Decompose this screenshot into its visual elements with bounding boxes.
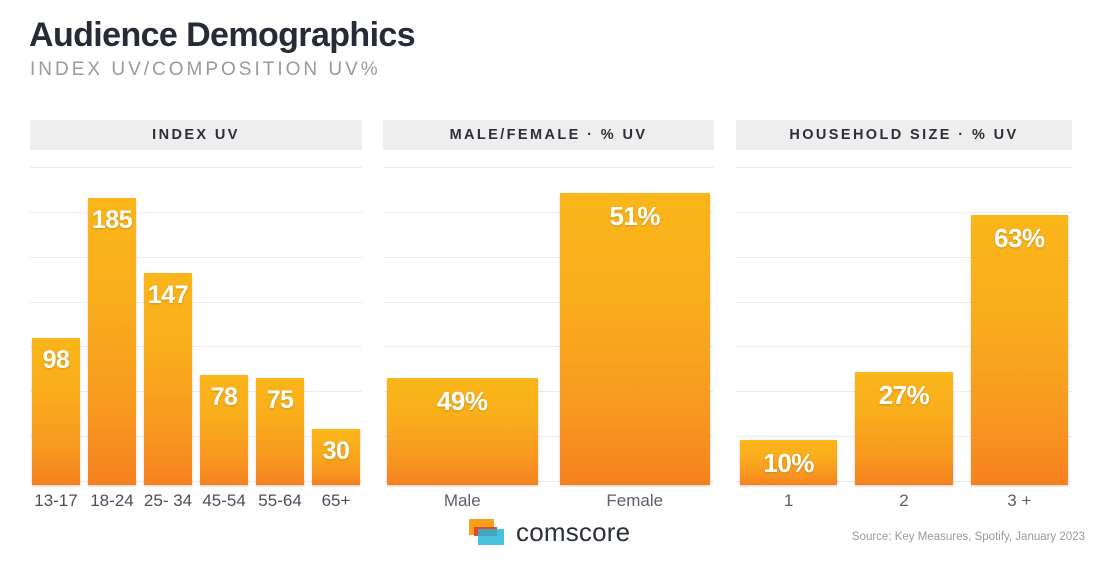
x-axis-labels-index-uv: 13-1718-2425- 3445-5455-6465+: [30, 491, 362, 511]
bar-slot: 78: [200, 167, 248, 485]
source-note: Source: Key Measures, Spotify, January 2…: [852, 531, 1085, 543]
chart-panel-household-size: HOUSEHOLD SIZE · % UV 10%27%63% 123 +: [736, 120, 1072, 511]
bar-slot: 30: [312, 167, 360, 485]
bar-value-label: 63%: [971, 223, 1068, 254]
bar[interactable]: 98: [32, 338, 80, 485]
x-axis-label: 2: [855, 491, 952, 511]
bar-value-label: 98: [32, 346, 80, 375]
chart-panel-male-female: MALE/FEMALE · % UV 49%51% MaleFemale: [383, 120, 714, 511]
bar-value-label: 10%: [740, 448, 837, 479]
bar[interactable]: 185: [88, 198, 136, 485]
x-axis-labels-male-female: MaleFemale: [383, 491, 714, 511]
panel-header-index-uv: INDEX UV: [30, 120, 362, 150]
bar-slot: 63%: [971, 167, 1068, 485]
comscore-wordmark: comscore: [516, 517, 630, 548]
bar[interactable]: 27%: [855, 372, 952, 485]
x-axis-label: 55-64: [256, 491, 304, 511]
plot-area-household-size: 10%27%63%: [736, 167, 1072, 485]
bar-group-male-female: 49%51%: [383, 167, 714, 485]
x-axis-labels-household-size: 123 +: [736, 491, 1072, 511]
bar-group-index-uv: 98185147787530: [30, 167, 362, 485]
page-subtitle: INDEX UV/COMPOSITION UV%: [30, 58, 415, 82]
bar-value-label: 147: [144, 281, 192, 310]
bar-slot: 10%: [740, 167, 837, 485]
bar-slot: 147: [144, 167, 192, 485]
bar[interactable]: 49%: [387, 378, 538, 485]
bar[interactable]: 63%: [971, 215, 1068, 485]
plot-area-index-uv: 98185147787530: [30, 167, 362, 485]
bar[interactable]: 147: [144, 273, 192, 485]
bar-value-label: 185: [88, 206, 136, 235]
bar[interactable]: 78: [200, 375, 248, 485]
page-header: Audience Demographics INDEX UV/COMPOSITI…: [29, 14, 415, 82]
x-axis-label: 13-17: [32, 491, 80, 511]
bar[interactable]: 51%: [560, 193, 711, 485]
bar[interactable]: 10%: [740, 440, 837, 485]
logo-rect-cyan: [478, 529, 504, 545]
bar-slot: 98: [32, 167, 80, 485]
bar-value-label: 51%: [560, 201, 711, 232]
bar-value-label: 78: [200, 383, 248, 412]
comscore-logo: comscore: [469, 517, 630, 548]
bar-slot: 185: [88, 167, 136, 485]
x-axis-label: Male: [387, 491, 538, 511]
bar-value-label: 30: [312, 437, 360, 466]
x-axis-label: 65+: [312, 491, 360, 511]
x-axis-label: 1: [740, 491, 837, 511]
bar-value-label: 27%: [855, 380, 952, 411]
page-title: Audience Demographics: [29, 14, 415, 56]
x-axis-label: 18-24: [88, 491, 136, 511]
bar-value-label: 49%: [387, 386, 538, 417]
panel-header-household-size: HOUSEHOLD SIZE · % UV: [736, 120, 1072, 150]
comscore-logo-icon: [469, 519, 506, 547]
bar[interactable]: 75: [256, 378, 304, 485]
bar[interactable]: 30: [312, 429, 360, 485]
chart-panel-index-uv: INDEX UV 98185147787530 13-1718-2425- 34…: [30, 120, 362, 511]
x-axis-label: 45-54: [200, 491, 248, 511]
bar-slot: 27%: [855, 167, 952, 485]
bar-slot: 75: [256, 167, 304, 485]
panel-header-label: MALE/FEMALE · % UV: [450, 127, 648, 143]
plot-area-male-female: 49%51%: [383, 167, 714, 485]
panel-header-label: INDEX UV: [152, 127, 240, 143]
bar-group-household-size: 10%27%63%: [736, 167, 1072, 485]
bar-value-label: 75: [256, 386, 304, 415]
x-axis-label: Female: [560, 491, 711, 511]
x-axis-label: 25- 34: [144, 491, 192, 511]
panel-header-male-female: MALE/FEMALE · % UV: [383, 120, 714, 150]
x-axis-label: 3 +: [971, 491, 1068, 511]
panel-header-label: HOUSEHOLD SIZE · % UV: [789, 127, 1018, 143]
bar-slot: 51%: [560, 167, 711, 485]
bar-slot: 49%: [387, 167, 538, 485]
